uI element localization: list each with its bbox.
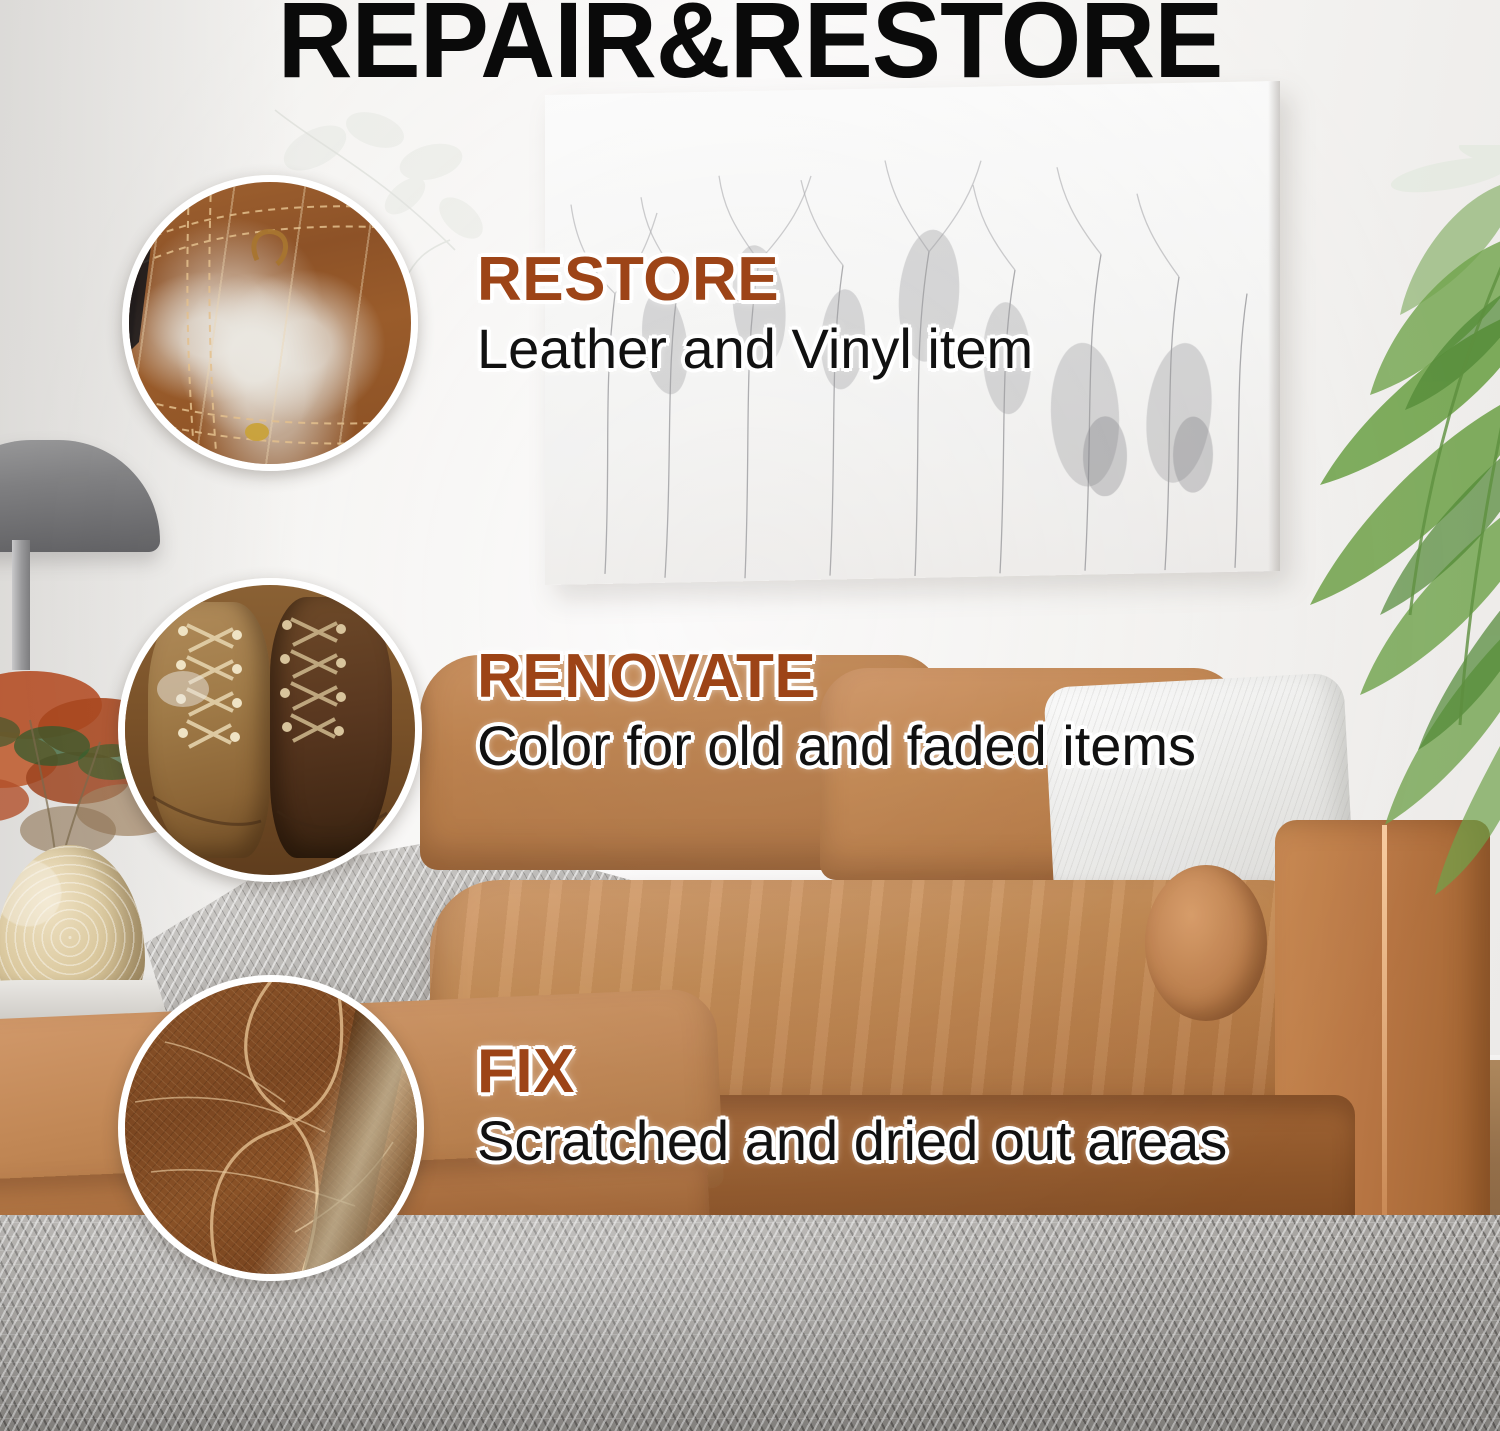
house-plant-icon: [1200, 145, 1500, 905]
feature-title-fix: FIX: [477, 1040, 1227, 1103]
feature-subtitle-fix: Scratched and dried out areas: [477, 1111, 1227, 1171]
feature-image-fix: [118, 975, 424, 1281]
feature-subtitle-renovate: Color for old and faded items: [477, 716, 1196, 776]
feature-image-renovate: [118, 578, 422, 882]
bag-stitching-icon: [129, 182, 411, 464]
feature-image-restore: [122, 175, 418, 471]
worn-leather-boots-photo: [125, 585, 415, 875]
feature-title-renovate: RENOVATE: [477, 645, 1196, 708]
page-title: REPAIR&RESTORE: [30, 0, 1470, 94]
feature-text-fix: FIX Scratched and dried out areas: [477, 1040, 1227, 1172]
feature-text-renovate: RENOVATE Color for old and faded items: [477, 645, 1196, 777]
scratch-marks-icon: [125, 982, 417, 1274]
scratched-leather-closeup-photo: [125, 982, 417, 1274]
feature-subtitle-restore: Leather and Vinyl item: [477, 319, 1033, 379]
boot-laces-icon: [125, 585, 415, 875]
feature-text-restore: RESTORE Leather and Vinyl item: [477, 248, 1033, 380]
product-feature-poster: REPAIR&RESTORE: [0, 0, 1500, 1431]
feature-title-restore: RESTORE: [477, 248, 1033, 311]
